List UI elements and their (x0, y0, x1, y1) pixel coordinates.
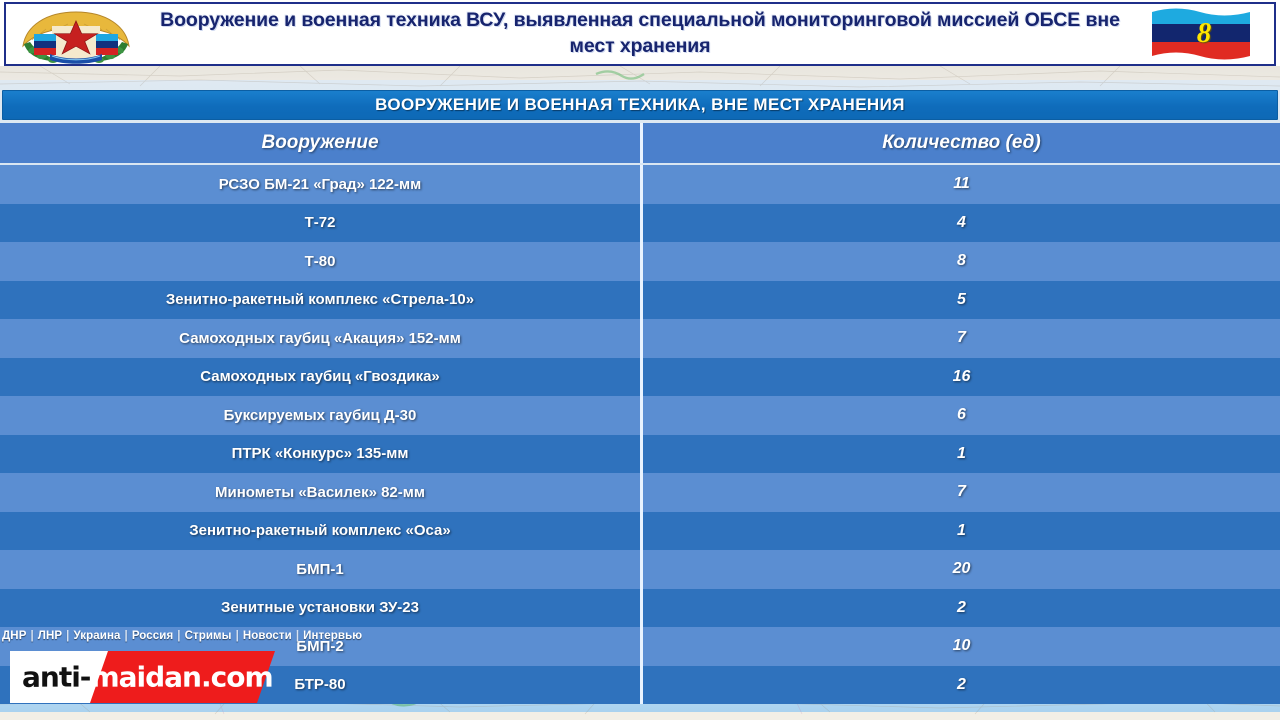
logo-wordmark: anti-maidan.com (22, 661, 273, 694)
cell-weapon-name: РСЗО БМ-21 «Град» 122-мм (0, 165, 640, 204)
nav-separator: | (232, 630, 243, 642)
cell-quantity: 4 (640, 204, 1280, 243)
cell-quantity: 5 (640, 281, 1280, 320)
cell-quantity: 6 (640, 396, 1280, 435)
logo-com-text: .com (201, 661, 273, 694)
cell-weapon-name: Зенитные установки ЗУ-23 (0, 589, 640, 628)
cell-weapon-name: Т-80 (0, 242, 640, 281)
page-title: Вооружение и военная техника ВСУ, выявле… (146, 8, 1134, 59)
cell-weapon-name: Минометы «Василек» 82-мм (0, 473, 640, 512)
cell-weapon-name: Зенитно-ракетный комплекс «Оса» (0, 512, 640, 551)
cell-weapon-name: Самоходных гаубиц «Гвоздика» (0, 358, 640, 397)
nav-item[interactable]: Стримы (185, 630, 232, 642)
cell-quantity: 11 (640, 165, 1280, 204)
table-header-row: Вооружение Количество (ед) (0, 123, 1280, 163)
cell-quantity: 20 (640, 550, 1280, 589)
table-row: Буксируемых гаубиц Д-306 (0, 396, 1280, 435)
table-row: ПТРК «Конкурс» 135-мм1 (0, 435, 1280, 474)
cell-weapon-name: БМП-1 (0, 550, 640, 589)
cell-quantity: 7 (640, 319, 1280, 358)
cell-weapon-name: Т-72 (0, 204, 640, 243)
table-row: Т-724 (0, 204, 1280, 243)
nav-item[interactable]: Украина (73, 630, 120, 642)
table-body: РСЗО БМ-21 «Град» 122-мм11Т-724Т-808Зени… (0, 165, 1280, 704)
logo-maidan-text: maidan (90, 661, 201, 694)
cell-quantity: 8 (640, 242, 1280, 281)
table-row: Минометы «Василек» 82-мм7 (0, 473, 1280, 512)
table-row: Самоходных гаубиц «Гвоздика»16 (0, 358, 1280, 397)
cell-quantity: 7 (640, 473, 1280, 512)
table-row: Т-808 (0, 242, 1280, 281)
nav-item[interactable]: Россия (132, 630, 173, 642)
cell-quantity: 1 (640, 435, 1280, 474)
cell-weapon-name: ПТРК «Конкурс» 135-мм (0, 435, 640, 474)
nav-separator: | (62, 630, 73, 642)
lpr-flag-icon: 8 (1134, 4, 1274, 64)
site-nav-watermark: ДНР|ЛНР|Украина|Россия|Стримы|Новости|Ин… (0, 627, 362, 645)
weapons-table: ВООРУЖЕНИЕ И ВОЕННАЯ ТЕХНИКА, ВНЕ МЕСТ Х… (0, 90, 1280, 704)
nav-separator: | (121, 630, 132, 642)
nav-item[interactable]: Новости (243, 630, 292, 642)
nav-separator: | (173, 630, 184, 642)
logo-anti-text: anti- (22, 661, 90, 694)
slide-root: Вооружение и военная техника ВСУ, выявле… (0, 0, 1280, 720)
table-row: БМП-120 (0, 550, 1280, 589)
nav-item[interactable]: ДНР (2, 630, 26, 642)
cell-weapon-name: Самоходных гаубиц «Акация» 152-мм (0, 319, 640, 358)
column-header-weapon: Вооружение (0, 123, 640, 163)
cell-quantity: 10 (640, 627, 1280, 666)
cell-weapon-name: Зенитно-ракетный комплекс «Стрела-10» (0, 281, 640, 320)
cell-quantity: 2 (640, 666, 1280, 705)
cell-quantity: 1 (640, 512, 1280, 551)
column-header-quantity: Количество (ед) (640, 123, 1280, 163)
nav-item[interactable]: ЛНР (38, 630, 62, 642)
table-row: Самоходных гаубиц «Акация» 152-мм7 (0, 319, 1280, 358)
anti-maidan-logo: anti-maidan.com (10, 651, 275, 703)
table-row: Зенитно-ракетный комплекс «Оса»1 (0, 512, 1280, 551)
nav-separator: | (292, 630, 303, 642)
title-banner: Вооружение и военная техника ВСУ, выявле… (4, 2, 1276, 66)
nav-item[interactable]: Интервью (303, 630, 362, 642)
cell-quantity: 2 (640, 589, 1280, 628)
table-title-bar: ВООРУЖЕНИЕ И ВОЕННАЯ ТЕХНИКА, ВНЕ МЕСТ Х… (2, 90, 1278, 120)
table-row: Зенитные установки ЗУ-232 (0, 589, 1280, 628)
table-row: РСЗО БМ-21 «Град» 122-мм11 (0, 165, 1280, 204)
cell-weapon-name: Буксируемых гаубиц Д-30 (0, 396, 640, 435)
cell-quantity: 16 (640, 358, 1280, 397)
table-row: Зенитно-ракетный комплекс «Стрела-10»5 (0, 281, 1280, 320)
nav-separator: | (26, 630, 37, 642)
lpr-coat-of-arms-icon (6, 4, 146, 64)
